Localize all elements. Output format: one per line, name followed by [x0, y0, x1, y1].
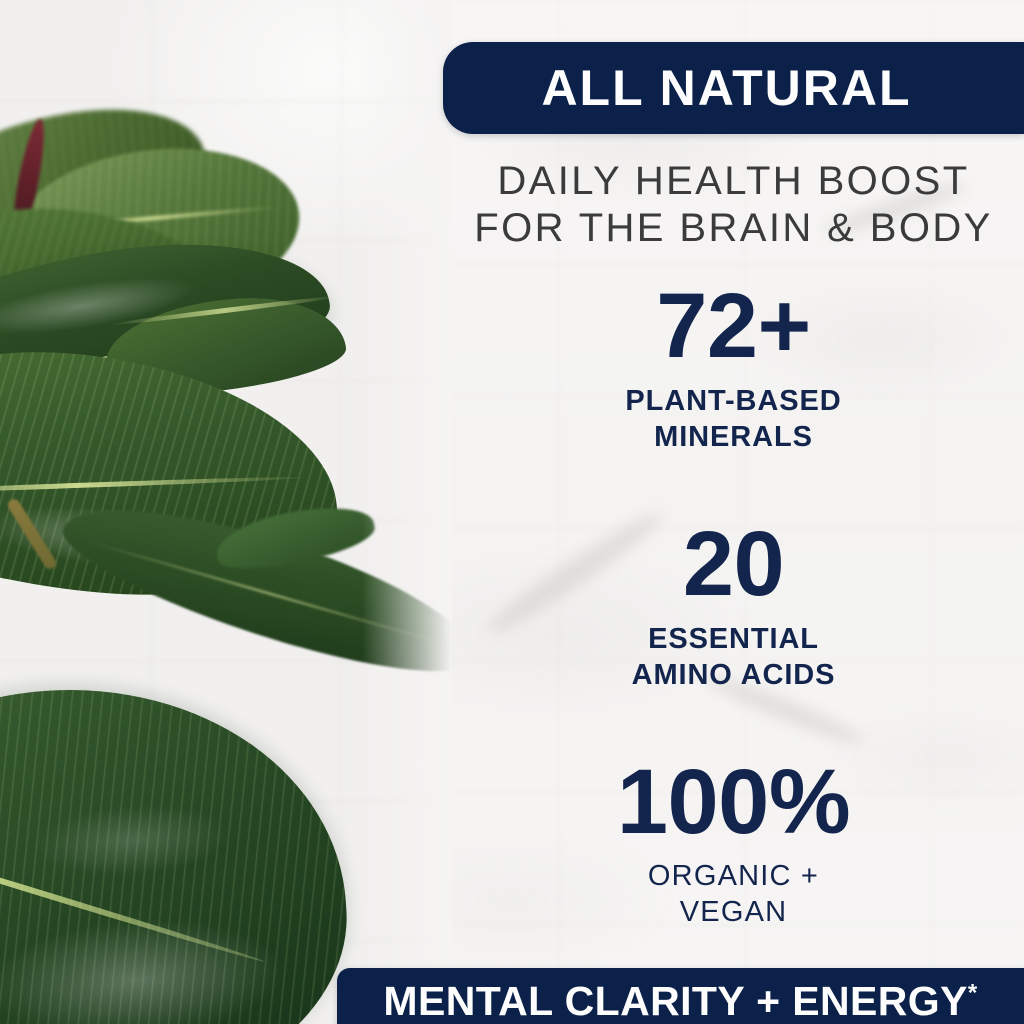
- subtitle-line-2: FOR THE BRAIN & BODY: [443, 205, 1024, 252]
- stats-list: 72+ PLANT-BASED MINERALS 20 ESSENTIAL AM…: [443, 280, 1024, 930]
- mental-clarity-banner-label: MENTAL CLARITY + ENERGY*: [383, 981, 977, 1022]
- stat-number: 72+: [443, 280, 1024, 374]
- stat-label-line-1: PLANT-BASED: [443, 383, 1024, 419]
- all-natural-banner: ALL NATURAL: [443, 42, 1024, 134]
- stat-number: 100%: [443, 756, 1024, 850]
- stat-label-line-1: ESSENTIAL: [443, 621, 1024, 657]
- stat-item: 72+ PLANT-BASED MINERALS: [443, 280, 1024, 455]
- subtitle-line-1: DAILY HEALTH BOOST: [443, 158, 1024, 205]
- mental-clarity-banner-text: MENTAL CLARITY + ENERGY: [383, 978, 967, 1024]
- stat-label-line-2: AMINO ACIDS: [443, 657, 1024, 693]
- stat-label: ESSENTIAL AMINO ACIDS: [443, 621, 1024, 693]
- stat-item: 100% ORGANIC + VEGAN: [443, 756, 1024, 931]
- photo-edge-blend: [362, 0, 452, 1024]
- stat-label-line-2: VEGAN: [443, 894, 1024, 930]
- footnote-asterisk: *: [968, 979, 978, 1006]
- plant-photo: [0, 0, 452, 1024]
- stat-label-line-1: ORGANIC +: [443, 858, 1024, 894]
- stat-label: PLANT-BASED MINERALS: [443, 383, 1024, 455]
- stat-label-line-2: MINERALS: [443, 419, 1024, 455]
- stat-label: ORGANIC + VEGAN: [443, 858, 1024, 930]
- subtitle: DAILY HEALTH BOOST FOR THE BRAIN & BODY: [443, 158, 1024, 252]
- all-natural-banner-label: ALL NATURAL: [541, 63, 925, 113]
- stat-item: 20 ESSENTIAL AMINO ACIDS: [443, 518, 1024, 693]
- infographic-canvas: ALL NATURAL DAILY HEALTH BOOST FOR THE B…: [0, 0, 1024, 1024]
- stat-number: 20: [443, 518, 1024, 612]
- mental-clarity-banner: MENTAL CLARITY + ENERGY*: [337, 968, 1024, 1024]
